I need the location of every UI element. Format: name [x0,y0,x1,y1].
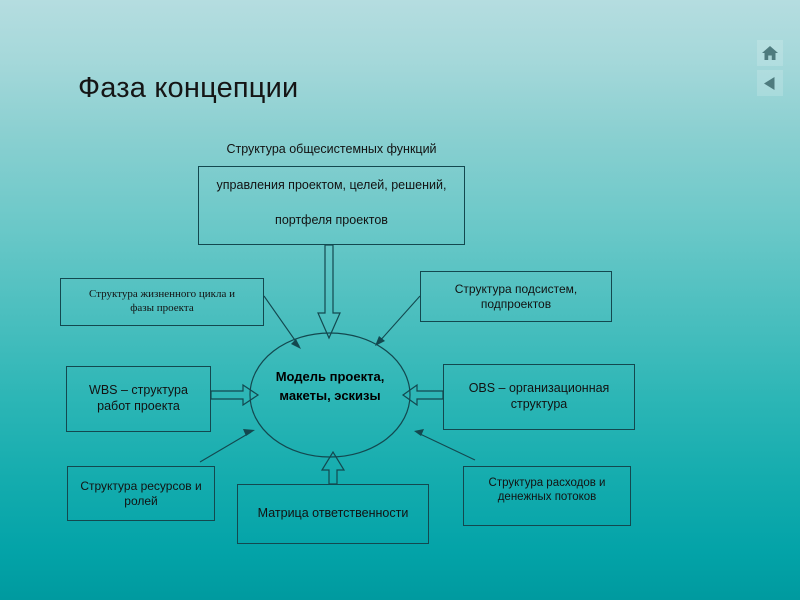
node-obs[interactable]: OBS – организационная структура [443,364,635,430]
node-responsibility-matrix[interactable]: Матрица ответственности [237,484,429,544]
node-subsystems[interactable]: Структура подсистем, подпроектов [420,271,612,322]
home-icon [761,45,779,62]
node-line-2: работ проекта [89,399,188,415]
slide-canvas: Фаза концепции Структура общесистемных ф… [0,0,800,600]
node-costs[interactable]: Структура расходов и денежных потоков [463,466,631,526]
node-system-functions[interactable]: Структура общесистемных функций управлен… [198,166,465,245]
node-line-2: управления проектом, целей, решений, [217,178,447,214]
node-line-1: Структура расходов и [489,476,606,490]
node-line-2: ролей [80,494,201,509]
node-line-2: фазы проекта [89,302,235,316]
center-line-1: Модель проекта, [253,368,407,387]
node-resources[interactable]: Структура ресурсов и ролей [67,466,215,521]
page-title: Фаза концепции [78,72,298,105]
node-line-1: WBS – структура [89,383,188,399]
node-line-1: OBS – организационная [469,381,610,397]
node-line-1: Структура общесистемных функций [217,142,447,178]
node-line-1: Структура жизненного цикла и [89,288,235,302]
node-line-1: Структура ресурсов и [80,479,201,494]
node-line-1: Структура подсистем, [455,282,578,297]
node-wbs[interactable]: WBS – структура работ проекта [66,366,211,432]
node-line-3: портфеля проектов [217,213,447,249]
arrow-resources-to-center [200,429,255,462]
back-triangle-icon [761,75,779,92]
node-line-2: подпроектов [455,297,578,312]
arrow-costs-to-center [414,429,475,460]
node-line-2: структура [469,397,610,413]
back-button[interactable] [757,70,783,96]
center-line-2: макеты, эскизы [253,387,407,406]
node-line-2: денежных потоков [489,490,606,504]
center-ellipse-label: Модель проекта, макеты, эскизы [253,368,407,406]
home-button[interactable] [757,40,783,66]
arrow-lifecycle-to-center [264,296,301,349]
node-line-1: Матрица ответственности [258,506,409,522]
node-lifecycle[interactable]: Структура жизненного цикла и фазы проект… [60,278,264,326]
arrow-subsystems-to-center [375,296,420,346]
